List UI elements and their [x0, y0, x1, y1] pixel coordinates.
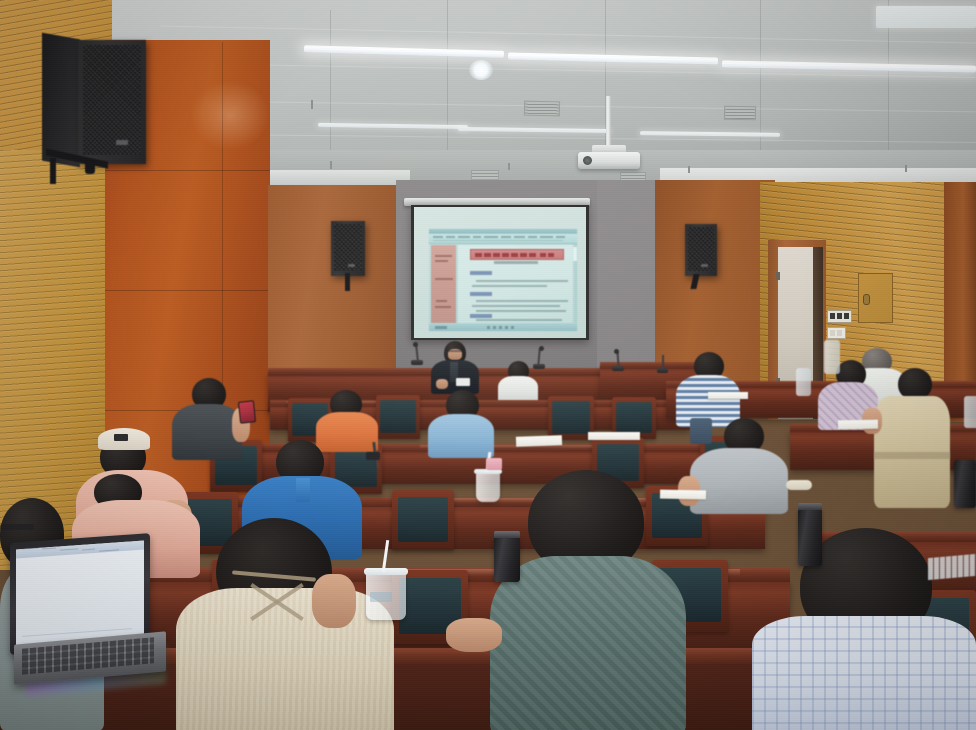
microphone-center-head-icon: [539, 346, 544, 351]
attendee-beige-top-arm: [312, 574, 356, 628]
document-section-heading: [470, 292, 492, 296]
air-vent-center: [524, 101, 560, 117]
ribbon-item-icon: [446, 236, 455, 238]
ribbon-item-icon: [484, 236, 498, 238]
document-body-line: [476, 280, 568, 282]
ceiling-hanger: [688, 166, 690, 173]
thermos-flask-far[interactable]: [954, 460, 976, 508]
document-body-line: [476, 319, 562, 321]
shoe: [786, 480, 812, 490]
wall-panel-seam: [105, 290, 270, 291]
ribbon-item-icon: [528, 236, 537, 238]
status-icon: [505, 326, 508, 329]
nav-item-icon: [435, 260, 448, 262]
strip-light-corner: [876, 6, 976, 28]
document-body-line: [476, 310, 566, 312]
title-glyph: [475, 253, 482, 257]
speaker-front-left-bracket: [345, 273, 350, 291]
speaker-front-left: [331, 221, 365, 276]
chair-pad: [552, 401, 590, 434]
attendee-checked-shirt-torso: [752, 616, 976, 730]
nav-item-icon: [435, 306, 451, 308]
projector-mount-pole: [606, 96, 611, 152]
title-glyph: [511, 253, 518, 257]
ribbon-item-icon: [514, 236, 525, 238]
document-section-heading: [470, 271, 492, 275]
speaker-brand-logo: [348, 264, 355, 267]
downlight: [469, 60, 493, 80]
microphone-far-stem: [662, 355, 664, 369]
air-vent-right: [724, 106, 756, 121]
document-ribbon-toolbar: [429, 234, 577, 244]
title-glyph: [484, 253, 491, 257]
document-title-banner: [470, 249, 564, 260]
water-bottle[interactable]: [964, 396, 976, 428]
thermos-lid: [494, 531, 520, 538]
microphone-stand-base: [366, 452, 380, 460]
switch-key-icon[interactable]: [830, 330, 835, 336]
status-icon: [499, 326, 502, 329]
speaker-right-rear: [685, 224, 717, 276]
document-body-line: [476, 300, 568, 302]
chair-pad: [380, 400, 416, 433]
ceiling-tile-seam: [760, 0, 761, 168]
attendee-teal-polo-hand: [446, 618, 502, 652]
status-icon: [493, 326, 496, 329]
cup-label: [370, 592, 392, 602]
ribbon-item-icon: [540, 236, 553, 238]
ceiling-hanger: [311, 100, 313, 109]
title-glyph: [540, 253, 546, 257]
chair-pad: [398, 497, 448, 542]
title-glyph: [493, 253, 500, 257]
switch-key-icon[interactable]: [830, 313, 835, 319]
ceiling-hanger: [508, 163, 510, 170]
glasses-icon: [0, 524, 34, 530]
attendee-orange-torso: [316, 412, 378, 452]
document-subtitle: [494, 261, 538, 264]
handout-papers[interactable]: [708, 392, 748, 399]
light-switch-upper[interactable]: [827, 310, 852, 323]
chair-pad: [616, 402, 652, 433]
keyboard[interactable]: [928, 554, 976, 580]
wall-panel-seam: [105, 170, 270, 171]
speaker-left-bracket-knob: [85, 160, 95, 174]
wall-highlight: [190, 80, 270, 150]
chair[interactable]: [376, 395, 420, 439]
title-glyph: [502, 253, 509, 257]
air-vent-lower: [471, 170, 499, 180]
presenter-hand: [436, 379, 448, 389]
nav-item-icon: [436, 300, 447, 302]
status-icon: [511, 326, 514, 329]
attendee-lightblue-torso: [428, 414, 494, 458]
switch-key-icon[interactable]: [844, 313, 849, 319]
status-icon: [487, 326, 490, 329]
status-text: [435, 326, 447, 329]
attendee-gray-tshirt-torso: [690, 448, 788, 514]
document-status-bar: [429, 324, 577, 331]
water-bottle-3[interactable]: [824, 340, 840, 374]
ribbon-item-icon: [556, 236, 565, 238]
speaker-left-rear: [78, 40, 146, 164]
conference-room-photo: [0, 0, 976, 730]
speaker-brand-logo: [701, 264, 708, 267]
presenter-name-card: [456, 378, 470, 386]
document-navigation-pane: [431, 245, 456, 323]
smartphone[interactable]: [238, 400, 256, 424]
panel-handle-icon[interactable]: [863, 294, 870, 305]
document-section-heading: [470, 314, 492, 318]
chair[interactable]: [392, 490, 454, 550]
handout-papers[interactable]: [516, 435, 562, 447]
polo-placket: [296, 478, 310, 502]
speaker-brand-logo: [116, 140, 128, 145]
trousers: [690, 418, 712, 444]
thermos-flask-right[interactable]: [798, 508, 822, 566]
cap-logo-icon: [114, 434, 128, 441]
speaker-grille-icon: [83, 45, 141, 155]
nav-item-icon: [435, 278, 453, 280]
scrollbar-thumb[interactable]: [573, 247, 577, 261]
nav-item-icon: [435, 255, 452, 257]
drink-cup-lid: [364, 568, 408, 575]
document-body-line: [472, 285, 547, 287]
water-bottle-2[interactable]: [796, 368, 811, 396]
drink-cup-2[interactable]: [476, 472, 500, 502]
handout-papers[interactable]: [660, 490, 706, 500]
document-body-line: [472, 305, 560, 307]
ribbon-divider: [433, 240, 563, 241]
dress-belt: [874, 452, 950, 459]
ribbon-item-icon: [501, 236, 511, 238]
handout-papers[interactable]: [838, 420, 878, 430]
ceiling-tile-seam: [447, 0, 448, 160]
ceiling-hanger: [905, 165, 907, 172]
thermos-lid: [798, 503, 822, 510]
projector-lens-icon: [583, 156, 592, 165]
thermos-flask-left[interactable]: [494, 536, 520, 582]
speaker-left-rear-side: [42, 33, 80, 168]
ceiling-hanger: [330, 161, 332, 169]
title-glyph: [548, 253, 554, 257]
switch-key-icon[interactable]: [837, 330, 842, 336]
attendee-teal-polo-torso: [490, 556, 686, 730]
presenter-glasses-icon: [447, 350, 463, 352]
ribbon-item-icon: [433, 236, 443, 238]
ribbon-item-icon: [458, 236, 470, 238]
speaker-left-bracket-arm: [50, 158, 56, 184]
ceiling-tile-seam: [330, 10, 331, 165]
title-glyph: [520, 253, 527, 257]
light-switch-lower[interactable]: [827, 327, 846, 339]
ribbon-item-icon: [473, 236, 481, 238]
microphone-right-head-icon: [614, 349, 619, 354]
wall-front-wood-panel: [268, 185, 403, 375]
switch-key-icon[interactable]: [837, 313, 842, 319]
door-hinge-icon: [776, 272, 780, 280]
title-glyph: [529, 253, 536, 257]
handout-papers[interactable]: [588, 432, 640, 440]
pink-desk-item[interactable]: [486, 458, 502, 470]
microphone-left-head-icon: [413, 342, 418, 347]
